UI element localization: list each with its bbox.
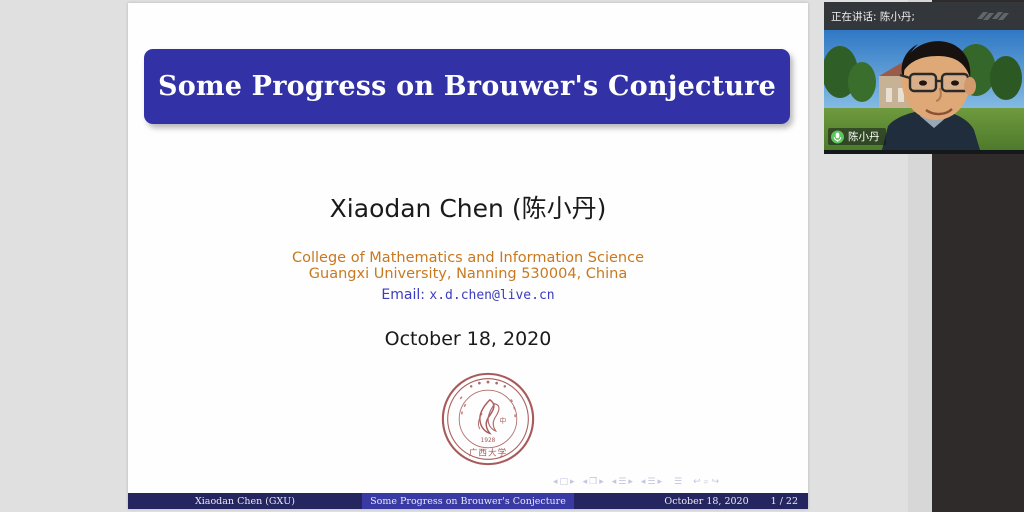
slide-date: October 18, 2020 — [128, 328, 808, 350]
email-address-link[interactable]: x.d.chen@live.cn — [429, 288, 554, 303]
participant-name-tag: 陈小丹 — [828, 128, 886, 145]
nav-group-frame[interactable]: ◂ ❐ ▸ — [583, 478, 604, 487]
active-speaker-label: 正在讲话: 陈小丹; — [831, 9, 915, 24]
nav-group-section[interactable]: ◂ ☰ ▸ — [641, 478, 662, 487]
back-icon[interactable]: ↩ — [693, 478, 701, 487]
nav-group-slide[interactable]: ◂ □ ▸ — [553, 478, 575, 487]
toc-icon[interactable]: ☰ — [674, 478, 682, 487]
section-icon[interactable]: ☰ — [647, 478, 655, 487]
next-frame-icon[interactable]: ▸ — [599, 478, 604, 487]
next-slide-icon[interactable]: ▸ — [570, 478, 575, 487]
affiliation-line-2: Guangxi University, Nanning 530004, Chin… — [128, 266, 808, 282]
prev-subsection-icon[interactable]: ◂ — [612, 478, 617, 487]
presentation-slide: Some Progress on Brouwer's Conjecture Xi… — [128, 3, 808, 509]
forward-icon[interactable]: ↪ — [712, 478, 720, 487]
microphone-icon — [831, 130, 844, 144]
svg-text:中: 中 — [500, 416, 507, 425]
next-section-icon[interactable]: ▸ — [657, 478, 662, 487]
subsection-icon[interactable]: ☰ — [618, 478, 626, 487]
footer-date: October 18, 2020 — [664, 496, 748, 507]
guangxi-university-seal-icon: 中 1928 广西大学 — [440, 371, 536, 467]
email-label: Email: — [381, 287, 425, 303]
footer-author: Xiaodan Chen (GXU) — [128, 493, 362, 509]
seal-ring-text-cn: 广西大学 — [469, 446, 507, 458]
email-line: Email: x.d.chen@live.cn — [128, 287, 808, 303]
affiliation-line-1: College of Mathematics and Information S… — [128, 250, 808, 266]
chevron-pattern-icon — [975, 9, 1017, 24]
search-icon[interactable]: ⌕ — [704, 478, 709, 487]
author-name: Xiaodan Chen (陈小丹) — [128, 189, 808, 225]
slide-footer: Xiaodan Chen (GXU) Some Progress on Brou… — [128, 493, 808, 509]
webcam-video-feed[interactable]: 陈小丹 — [824, 30, 1024, 150]
footer-title: Some Progress on Brouwer's Conjecture — [362, 493, 574, 509]
footer-page-number: 1 / 22 — [771, 496, 798, 507]
slide-title-banner: Some Progress on Brouwer's Conjecture — [144, 49, 790, 124]
nav-group-subsection[interactable]: ◂ ☰ ▸ — [612, 478, 633, 487]
footer-meta: October 18, 2020 1 / 22 — [574, 493, 808, 509]
slide-icon[interactable]: □ — [560, 478, 569, 487]
page-title: Some Progress on Brouwer's Conjecture — [158, 71, 776, 102]
video-header-bar: 正在讲话: 陈小丹; — [824, 2, 1024, 30]
frame-icon[interactable]: ❐ — [589, 478, 597, 487]
seal-year: 1928 — [481, 438, 496, 444]
prev-section-icon[interactable]: ◂ — [641, 478, 646, 487]
video-call-panel[interactable]: 正在讲话: 陈小丹; — [824, 2, 1024, 150]
prev-slide-icon[interactable]: ◂ — [553, 478, 558, 487]
prev-frame-icon[interactable]: ◂ — [583, 478, 588, 487]
participant-name: 陈小丹 — [848, 129, 880, 144]
video-bottom-edge — [824, 150, 1024, 154]
beamer-navigation-bar[interactable]: ◂ □ ▸ ◂ ❐ ▸ ◂ ☰ ▸ ◂ ☰ ▸ ☰ ↩ ⌕ ↪ — [553, 475, 793, 489]
next-subsection-icon[interactable]: ▸ — [628, 478, 633, 487]
